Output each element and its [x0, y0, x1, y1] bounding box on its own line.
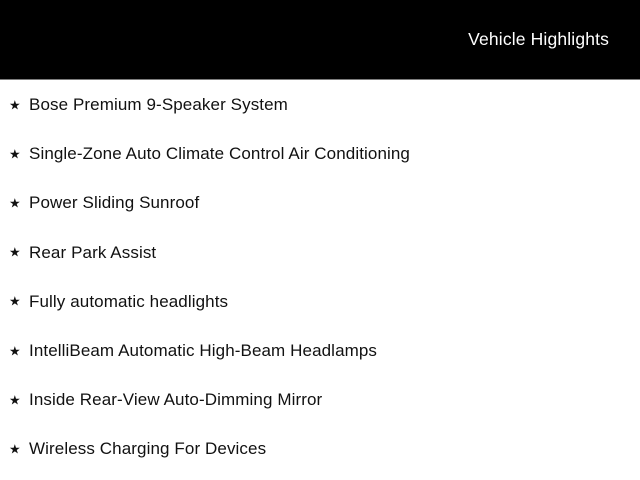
vehicle-highlights-list: ★ Bose Premium 9-Speaker System ★ Single…: [0, 80, 640, 474]
star-bullet-icon: ★: [9, 147, 23, 160]
highlight-label: Single-Zone Auto Climate Control Air Con…: [29, 143, 410, 164]
star-bullet-icon: ★: [9, 196, 23, 209]
list-item: ★ Inside Rear-View Auto-Dimming Mirror: [0, 375, 640, 424]
star-bullet-icon: ★: [9, 442, 23, 455]
highlight-label: Rear Park Assist: [29, 242, 156, 263]
list-item: ★ Bose Premium 9-Speaker System: [0, 80, 640, 129]
vehicle-highlights-panel: Vehicle Highlights ★ Bose Premium 9-Spea…: [0, 0, 640, 480]
highlight-label: Power Sliding Sunroof: [29, 192, 199, 213]
highlight-label: Inside Rear-View Auto-Dimming Mirror: [29, 389, 322, 410]
star-bullet-icon: ★: [9, 344, 23, 357]
list-item: ★ Rear Park Assist: [0, 228, 640, 277]
highlight-label: Bose Premium 9-Speaker System: [29, 94, 288, 115]
list-item: ★ Wireless Charging For Devices: [0, 424, 640, 473]
star-bullet-icon: ★: [9, 393, 23, 406]
star-bullet-icon: ★: [9, 295, 23, 308]
list-item: ★ Single-Zone Auto Climate Control Air C…: [0, 129, 640, 178]
star-bullet-icon: ★: [9, 246, 23, 259]
list-item: ★ Power Sliding Sunroof: [0, 178, 640, 227]
highlight-label: Fully automatic headlights: [29, 291, 228, 312]
list-item: ★ Fully automatic headlights: [0, 277, 640, 326]
list-item: ★ IntelliBeam Automatic High-Beam Headla…: [0, 326, 640, 375]
highlight-label: Wireless Charging For Devices: [29, 438, 266, 459]
header-band: Vehicle Highlights: [0, 0, 640, 79]
page-title: Vehicle Highlights: [468, 29, 609, 50]
highlight-label: IntelliBeam Automatic High-Beam Headlamp…: [29, 340, 377, 361]
star-bullet-icon: ★: [9, 98, 23, 111]
